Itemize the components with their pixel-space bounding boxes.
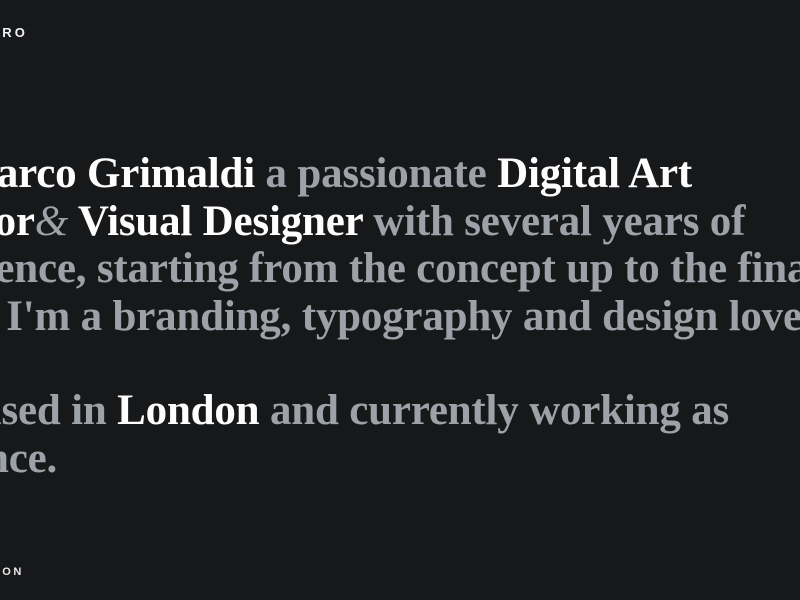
ampersand-glyph: &: [35, 198, 68, 245]
intro-lead-2: I'm based in: [0, 387, 117, 434]
intro-name: Marco Grimaldi: [0, 150, 255, 197]
intro-role-2: Visual Designer: [78, 198, 363, 245]
intro-mid-1: a passionate: [255, 150, 497, 197]
section-label: HERO: [0, 25, 28, 40]
intro-copy: I'm Marco Grimaldi a passionate Digital …: [0, 150, 800, 482]
intro-paragraph-1: I'm Marco Grimaldi a passionate Digital …: [0, 150, 800, 340]
follow-me-on-label: FOLLOW ME ON: [0, 566, 24, 578]
hero-section: HERO I'm Marco Grimaldi a passionate Dig…: [0, 0, 800, 600]
intro-city: London: [117, 387, 259, 434]
intro-paragraph-2: I'm based in London and currently workin…: [0, 387, 800, 482]
